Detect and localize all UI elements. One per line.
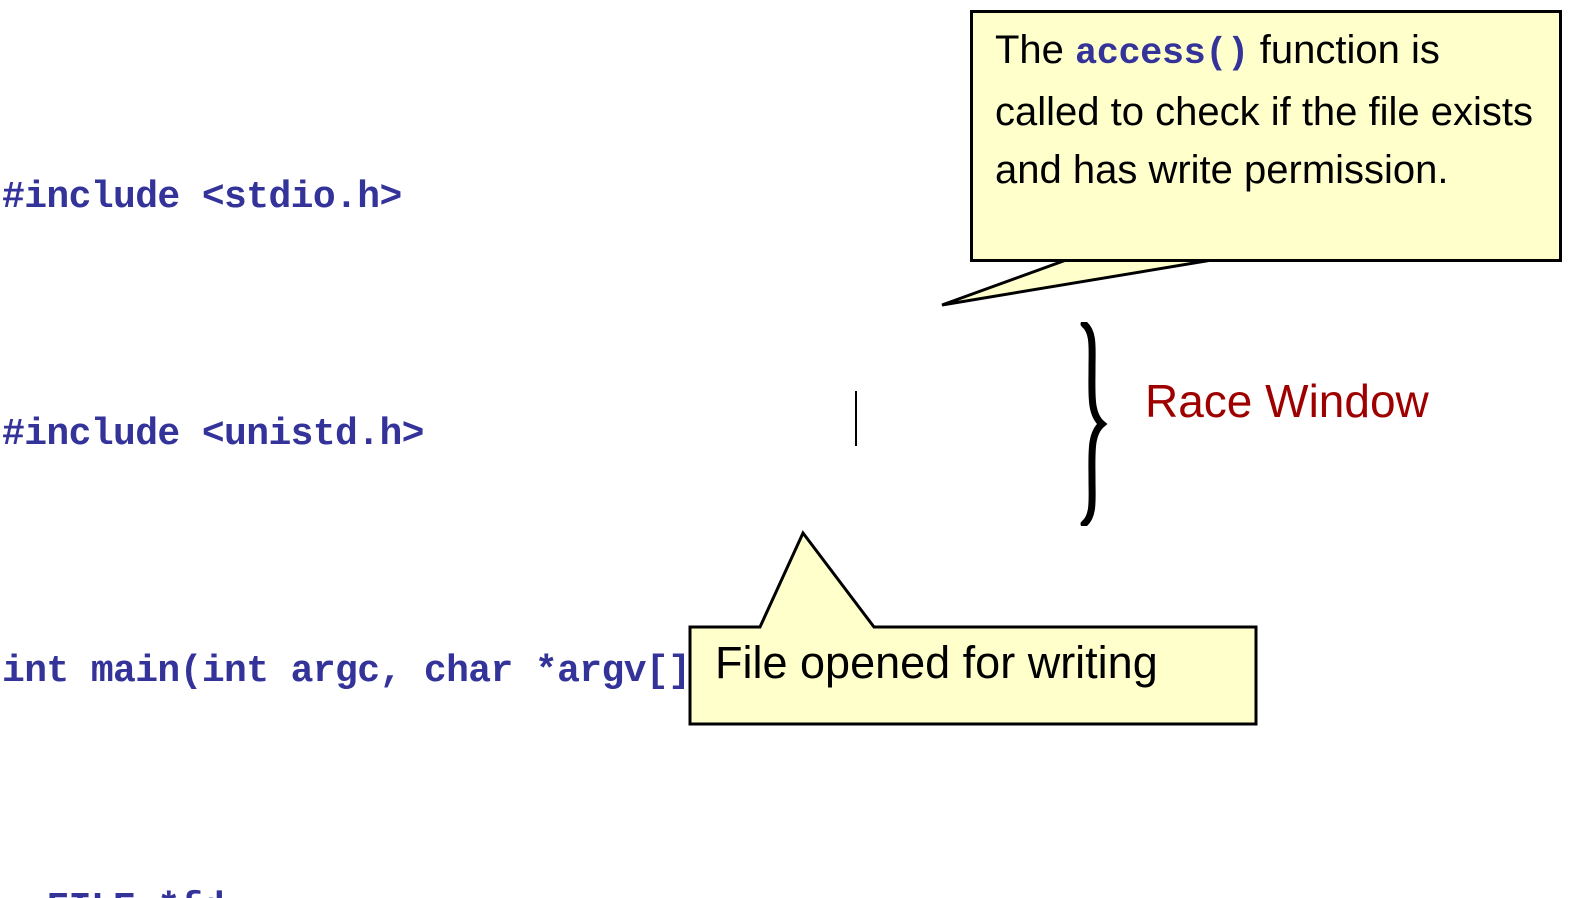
callout-access-text: The access() function is called to check… [995,21,1547,199]
text-cursor-caret [855,391,857,446]
code-block: #include <stdio.h> #include <unistd.h> i… [0,0,1120,898]
race-window-label: Race Window [1145,378,1429,424]
slide-canvas: #include <stdio.h> #include <unistd.h> i… [0,0,1570,898]
code-line: #include <unistd.h> [0,395,1120,474]
callout-access-box: The access() function is called to check… [970,10,1562,262]
callout-access-text-before: The [995,28,1075,72]
race-window-brace-icon [1062,322,1112,526]
callout-file-opened-text: File opened for writing [715,640,1158,685]
code-line: #include <stdio.h> [0,158,1120,237]
callout-access-code-token: access() [1075,33,1249,75]
callout-access-tail [930,255,1250,310]
code-line: FILE *fd; [0,869,1120,898]
callout-file-opened-box [688,528,1258,728]
